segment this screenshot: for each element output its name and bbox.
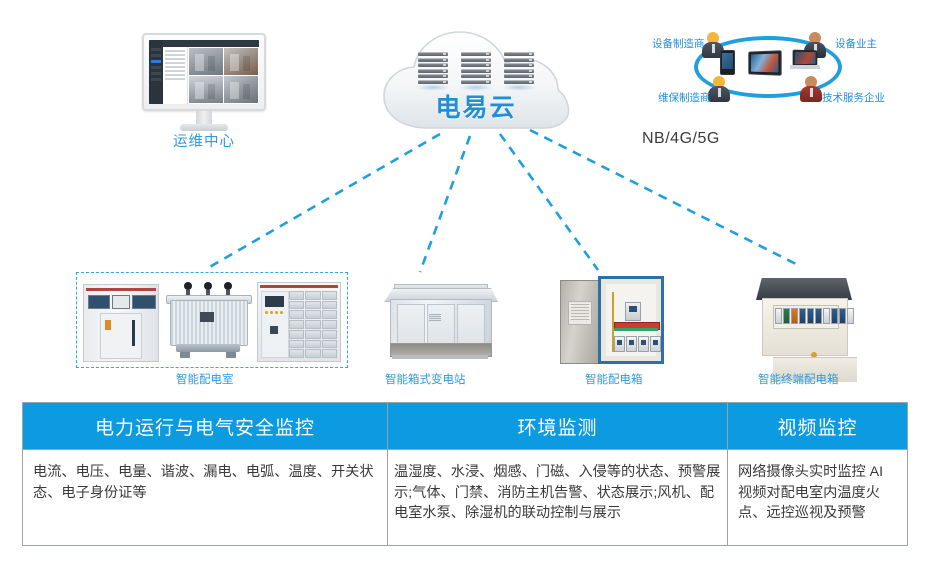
- role-label-equipment-manufacturer: 设备制造商: [652, 36, 705, 51]
- monitor-stand-neck: [196, 111, 212, 125]
- feature-header-video-monitoring: 视频监控: [728, 403, 907, 449]
- camera-tile: [189, 76, 223, 103]
- person-icon-maintenance-provider: [708, 76, 730, 102]
- ops-center-label: 运维中心: [134, 130, 274, 151]
- role-label-equipment-owner: 设备业主: [835, 36, 877, 51]
- network-type-label: NB/4G/5G: [642, 130, 720, 148]
- feature-body-environment-monitoring: 温湿度、水浸、烟感、门磁、入侵等的状态、预警展示;气体、门禁、消防主机告警、状态…: [388, 450, 728, 545]
- lv-distribution-panel-icon: [257, 282, 341, 362]
- cloud-platform-label: 电易云: [378, 88, 574, 124]
- role-label-technical-service-enterprise: 技术服务企业: [822, 90, 885, 105]
- monitor-screen: [149, 40, 259, 104]
- feature-body-power-monitoring: 电流、电压、电量、谐波、漏电、电弧、温度、开关状态、电子身份证等: [23, 450, 388, 545]
- feature-table-body-row: 电流、电压、电量、谐波、漏电、电弧、温度、开关状态、电子身份证等 温湿度、水浸、…: [23, 449, 907, 545]
- device-label-smart-box-type-substation: 智能箱式变电站: [385, 371, 466, 387]
- feature-table-header-row: 电力运行与电气安全监控 环境监测 视频监控: [23, 403, 907, 449]
- switchgear-cabinet-icon: [83, 284, 159, 362]
- stakeholder-ring: 设备制造商 设备业主 维保制造商 技术服务企业: [672, 18, 907, 118]
- feature-body-video-monitoring: 网络摄像头实时监控 AI视频对配电室内温度火点、远控巡视及预警: [728, 450, 907, 545]
- tablet-icon: [748, 50, 781, 76]
- device-label-smart-power-distribution-room: 智能配电室: [176, 371, 234, 387]
- smartphone-icon: [720, 50, 735, 75]
- dashboard-sidebar: [149, 40, 163, 104]
- device-label-smart-terminal-distribution-box: 智能终端配电箱: [758, 371, 839, 387]
- feature-header-environment-monitoring: 环境监测: [388, 403, 728, 449]
- dashboard-main: [163, 40, 259, 104]
- device-smart-power-distribution-room: [76, 272, 348, 368]
- person-icon-technical-service-enterprise: [800, 76, 822, 102]
- dashboard-topbar: [163, 40, 259, 47]
- dashboard-device-list: [163, 47, 188, 104]
- camera-grid: [188, 47, 259, 104]
- server-icon: [418, 52, 448, 86]
- server-icon: [504, 52, 534, 86]
- role-label-maintenance-provider: 维保制造商: [658, 90, 711, 105]
- camera-tile: [224, 76, 258, 103]
- device-smart-distribution-box: [560, 276, 664, 368]
- box-substation-icon: [384, 280, 496, 366]
- camera-tile: [189, 48, 223, 75]
- transformer-icon: [162, 282, 254, 362]
- terminal-distribution-box-icon: [752, 272, 856, 368]
- cloud-platform: 电易云: [378, 28, 574, 138]
- distribution-box-icon: [560, 276, 664, 368]
- device-smart-terminal-distribution-box: [752, 272, 856, 368]
- feature-header-power-monitoring: 电力运行与电气安全监控: [23, 403, 388, 449]
- diagram-canvas: 运维中心 电易云: [0, 0, 927, 563]
- server-icon: [461, 52, 491, 86]
- device-label-smart-distribution-box: 智能配电箱: [585, 371, 643, 387]
- laptop-icon: [790, 50, 820, 72]
- monitor-frame: [142, 33, 266, 111]
- device-smart-box-type-substation: [384, 280, 496, 366]
- camera-tile: [224, 48, 258, 75]
- feature-table: 电力运行与电气安全监控 环境监测 视频监控 电流、电压、电量、谐波、漏电、电弧、…: [22, 402, 908, 546]
